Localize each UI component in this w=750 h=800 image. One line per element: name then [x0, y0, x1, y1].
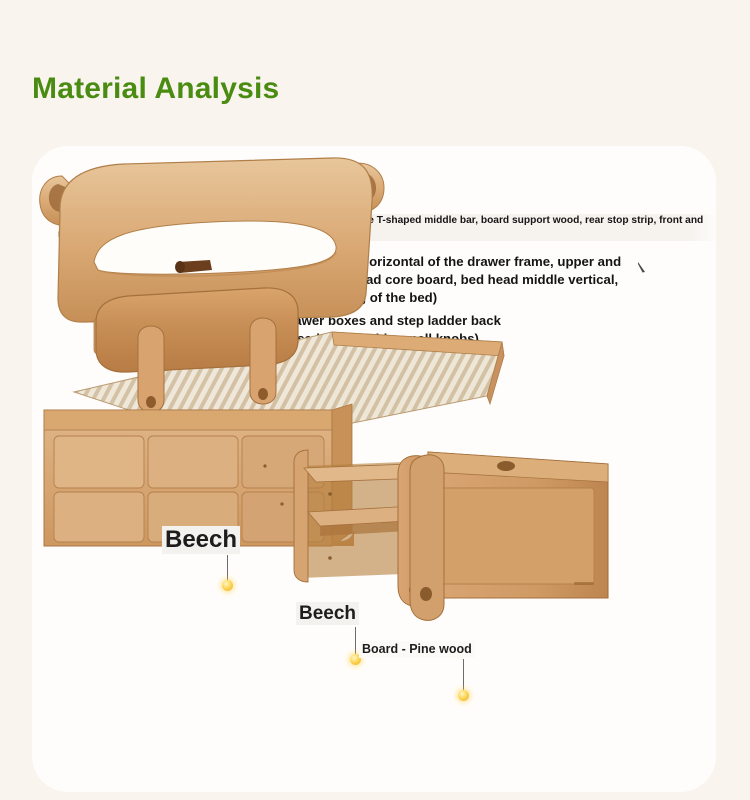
bed-illustration	[32, 146, 716, 792]
leader-line-board-pine-wood	[463, 659, 464, 693]
footboard-storage-box	[410, 452, 608, 620]
page-title: Material Analysis	[32, 72, 279, 106]
annotation-beech-guardrail: Beech	[296, 602, 359, 625]
marker-dot-board-pine-wood[interactable]	[458, 690, 469, 701]
material-analysis-card: Main material: Beech Auxiliary materials…	[32, 146, 716, 792]
leader-line-beech-headboard	[227, 555, 228, 583]
annotation-board-pine-wood: Board - Pine wood	[359, 641, 475, 658]
leader-line-beech-guardrail	[355, 627, 356, 657]
marker-dot-beech-headboard[interactable]	[222, 580, 233, 591]
annotation-beech-headboard: Beech	[162, 526, 240, 554]
